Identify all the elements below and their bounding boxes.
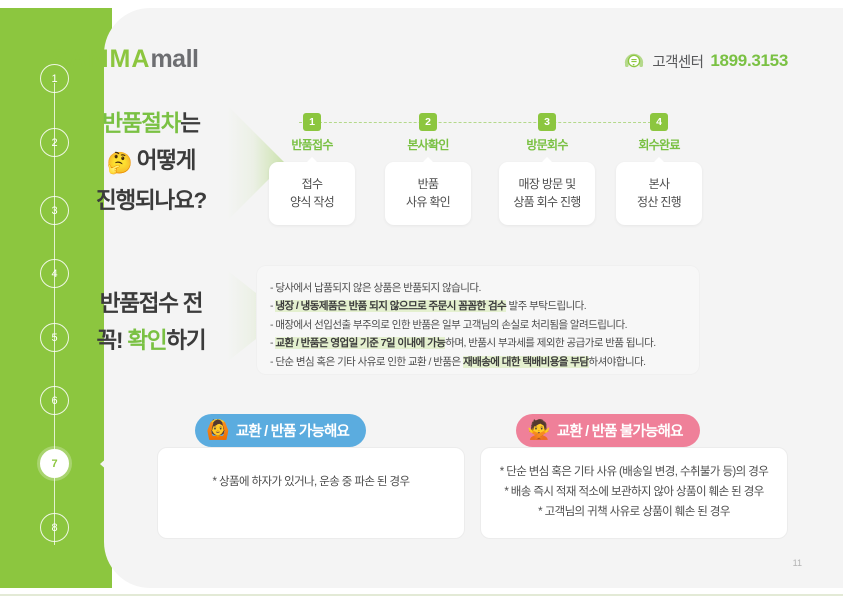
sidebar-item-1[interactable]: 1 (40, 64, 69, 93)
notice-line-2-highlight: 냉장 / 냉동제품은 반품 되지 않으므로 주문시 꼼꼼한 검수 (275, 300, 506, 312)
process-heading-line3: 진행되나요? (46, 182, 256, 219)
person-gesturing-no-icon: 🙅 (527, 421, 550, 440)
notice-heading-suffix: 하기 (166, 328, 205, 353)
process-heading-highlight: 반품절차 (102, 111, 180, 136)
process-heading: 반품절차는 🤔 어떻게 진행되나요? (46, 105, 256, 219)
notice-heading-prefix: 꼭! (97, 328, 128, 353)
headset-icon (623, 50, 645, 72)
sidebar-item-2[interactable]: 2 (40, 128, 69, 157)
notice-heading-line2: 꼭! 확인하기 (46, 322, 256, 359)
process-step-4-name: 회수완료 (616, 136, 702, 153)
sidebar-item-1-label: 1 (51, 73, 57, 85)
sidebar-item-7-label: 7 (51, 458, 57, 470)
notice-line-5-after: 하셔야합니다. (589, 356, 646, 368)
sidebar-item-6-label: 6 (51, 395, 57, 407)
notice-line-4-highlight: 교환 / 반품은 영업일 기준 7일 이내에 가능 (275, 337, 445, 349)
sidebar-item-5[interactable]: 5 (40, 323, 69, 352)
process-step-4-desc-line1: 본사 (620, 175, 698, 193)
notice-line-1-before: - 당사에서 납품되지 않은 상품은 반품되지 않습니다. (270, 282, 481, 294)
process-step-2-name: 본사확인 (385, 136, 471, 153)
notice-line-2: - 냉장 / 냉동제품은 반품 되지 않으므로 주문시 꼼꼼한 검수 발주 부탁… (270, 297, 684, 315)
process-step-4-number: 4 (650, 113, 668, 131)
notice-heading: 반품접수 전 꼭! 확인하기 (46, 285, 256, 359)
sidebar-item-4-label: 4 (51, 268, 57, 280)
process-heading-line2: 🤔 어떻게 (46, 142, 256, 182)
customer-center-number: 1899.3153 (710, 51, 788, 71)
process-step-1-name: 반품접수 (269, 136, 355, 153)
notice-line-4-after: 하며, 반품시 부과세를 제외한 공급가로 반품 됩니다. (445, 337, 655, 349)
process-step-2-desc-line1: 반품 (389, 175, 467, 193)
sidebar-item-6[interactable]: 6 (40, 386, 69, 415)
process-step-3-number: 3 (538, 113, 556, 131)
exchange-allowed-badge-label: 교환 / 반품 가능해요 (236, 420, 349, 441)
process-steps: 1 반품접수 접수 양식 작성 2 본사확인 반품 사유 확인 3 방문회수 매… (269, 112, 694, 222)
notice-line-3-before: - 매장에서 선입선출 부주의로 인한 반품은 일부 고객님의 손실로 처리됨을… (270, 319, 627, 331)
thinking-face-icon: 🤔 (107, 152, 132, 175)
notice-line-5-before: - 단순 변심 혹은 기타 사유로 인한 교환 / 반품은 (270, 356, 463, 368)
process-step-2-number: 2 (419, 113, 437, 131)
sidebar-item-8-label: 8 (51, 522, 57, 534)
notice-heading-line1: 반품접수 전 (46, 285, 256, 322)
exchange-denied-item-3: * 고객님의 귀책 사유로 상품이 훼손 된 경우 (481, 502, 787, 522)
process-step-1: 1 반품접수 접수 양식 작성 (269, 112, 355, 225)
sidebar-item-8[interactable]: 8 (40, 513, 69, 542)
process-step-4: 4 회수완료 본사 정산 진행 (616, 112, 702, 225)
notice-line-3: - 매장에서 선입선출 부주의로 인한 반품은 일부 고객님의 손실로 처리됨을… (270, 316, 684, 334)
process-heading-rest: 는 (180, 111, 200, 136)
process-step-2-desc-line2: 사유 확인 (389, 193, 467, 211)
notice-line-5-highlight: 재배송에 대한 택배비용을 부담 (463, 356, 589, 368)
exchange-allowed-body: * 상품에 하자가 있거나, 운송 중 파손 된 경우 (158, 448, 464, 492)
brand-logo[interactable]: SAMMA mall (51, 45, 198, 74)
exchange-denied-item-2: * 배송 즉시 적재 적소에 보관하지 않아 상품이 훼손 된 경우 (481, 482, 787, 502)
customer-center[interactable]: 고객센터 1899.3153 (623, 50, 788, 72)
sidebar-item-3-label: 3 (51, 205, 57, 217)
notice-line-1: - 당사에서 납품되지 않은 상품은 반품되지 않습니다. (270, 279, 684, 297)
process-step-2-card: 반품 사유 확인 (385, 162, 471, 225)
process-step-1-card: 접수 양식 작성 (269, 162, 355, 225)
exchange-denied-body: * 단순 변심 혹은 기타 사유 (배송일 변경, 수취불가 등)의 경우 * … (481, 448, 787, 522)
sidebar-item-7[interactable]: 7 (40, 449, 69, 478)
notice-line-4: - 교환 / 반품은 영업일 기준 7일 이내에 가능하며, 반품시 부과세를 … (270, 334, 684, 352)
process-step-4-desc-line2: 정산 진행 (620, 193, 698, 211)
exchange-allowed-item-1: * 상품에 하자가 있거나, 운송 중 파손 된 경우 (158, 472, 464, 492)
process-step-3: 3 방문회수 매장 방문 및 상품 회수 진행 (499, 112, 595, 225)
sidebar-item-3[interactable]: 3 (40, 196, 69, 225)
slide-canvas: 1 2 3 4 5 6 7 8 SAMMA mall 고객센터 1899.315… (0, 0, 843, 596)
process-step-2: 2 본사확인 반품 사유 확인 (385, 112, 471, 225)
process-step-3-name: 방문회수 (499, 136, 595, 153)
notice-line-5: - 단순 변심 혹은 기타 사유로 인한 교환 / 반품은 재배송에 대한 택배… (270, 353, 684, 371)
process-step-3-desc-line2: 상품 회수 진행 (501, 193, 593, 211)
process-step-1-number: 1 (303, 113, 321, 131)
sidebar-item-5-label: 5 (51, 332, 57, 344)
notice-heading-line1-text: 반품접수 전 (100, 291, 203, 316)
page-number: 11 (793, 558, 802, 568)
exchange-denied-badge: 🙅 교환 / 반품 불가능해요 (516, 414, 700, 447)
customer-center-label: 고객센터 (652, 51, 703, 72)
process-step-1-desc-line2: 양식 작성 (273, 193, 351, 211)
process-step-4-card: 본사 정산 진행 (616, 162, 702, 225)
brand-logo-secondary: mall (150, 45, 198, 74)
process-step-1-desc-line1: 접수 (273, 175, 351, 193)
person-gesturing-ok-icon: 🙆 (206, 421, 229, 440)
notice-heading-highlight: 확인 (127, 328, 166, 353)
exchange-denied-item-1: * 단순 변심 혹은 기타 사유 (배송일 변경, 수취불가 등)의 경우 (481, 462, 787, 482)
exchange-allowed-badge: 🙆 교환 / 반품 가능해요 (195, 414, 366, 447)
notice-box: - 당사에서 납품되지 않은 상품은 반품되지 않습니다. - 냉장 / 냉동제… (256, 265, 700, 375)
sidebar-item-4[interactable]: 4 (40, 259, 69, 288)
process-heading-line1: 반품절차는 (46, 105, 256, 142)
exchange-denied-badge-label: 교환 / 반품 불가능해요 (557, 420, 683, 441)
exchange-denied-box: * 단순 변심 혹은 기타 사유 (배송일 변경, 수취불가 등)의 경우 * … (480, 447, 788, 539)
sidebar-item-2-label: 2 (51, 137, 57, 149)
process-step-3-card: 매장 방문 및 상품 회수 진행 (499, 162, 595, 225)
process-heading-line3-text: 진행되나요? (96, 188, 206, 213)
process-heading-line2-text: 어떻게 (137, 148, 196, 173)
notice-line-2-after: 발주 부탁드립니다. (506, 300, 586, 312)
process-step-3-desc-line1: 매장 방문 및 (501, 175, 593, 193)
exchange-allowed-box: * 상품에 하자가 있거나, 운송 중 파손 된 경우 (157, 447, 465, 539)
